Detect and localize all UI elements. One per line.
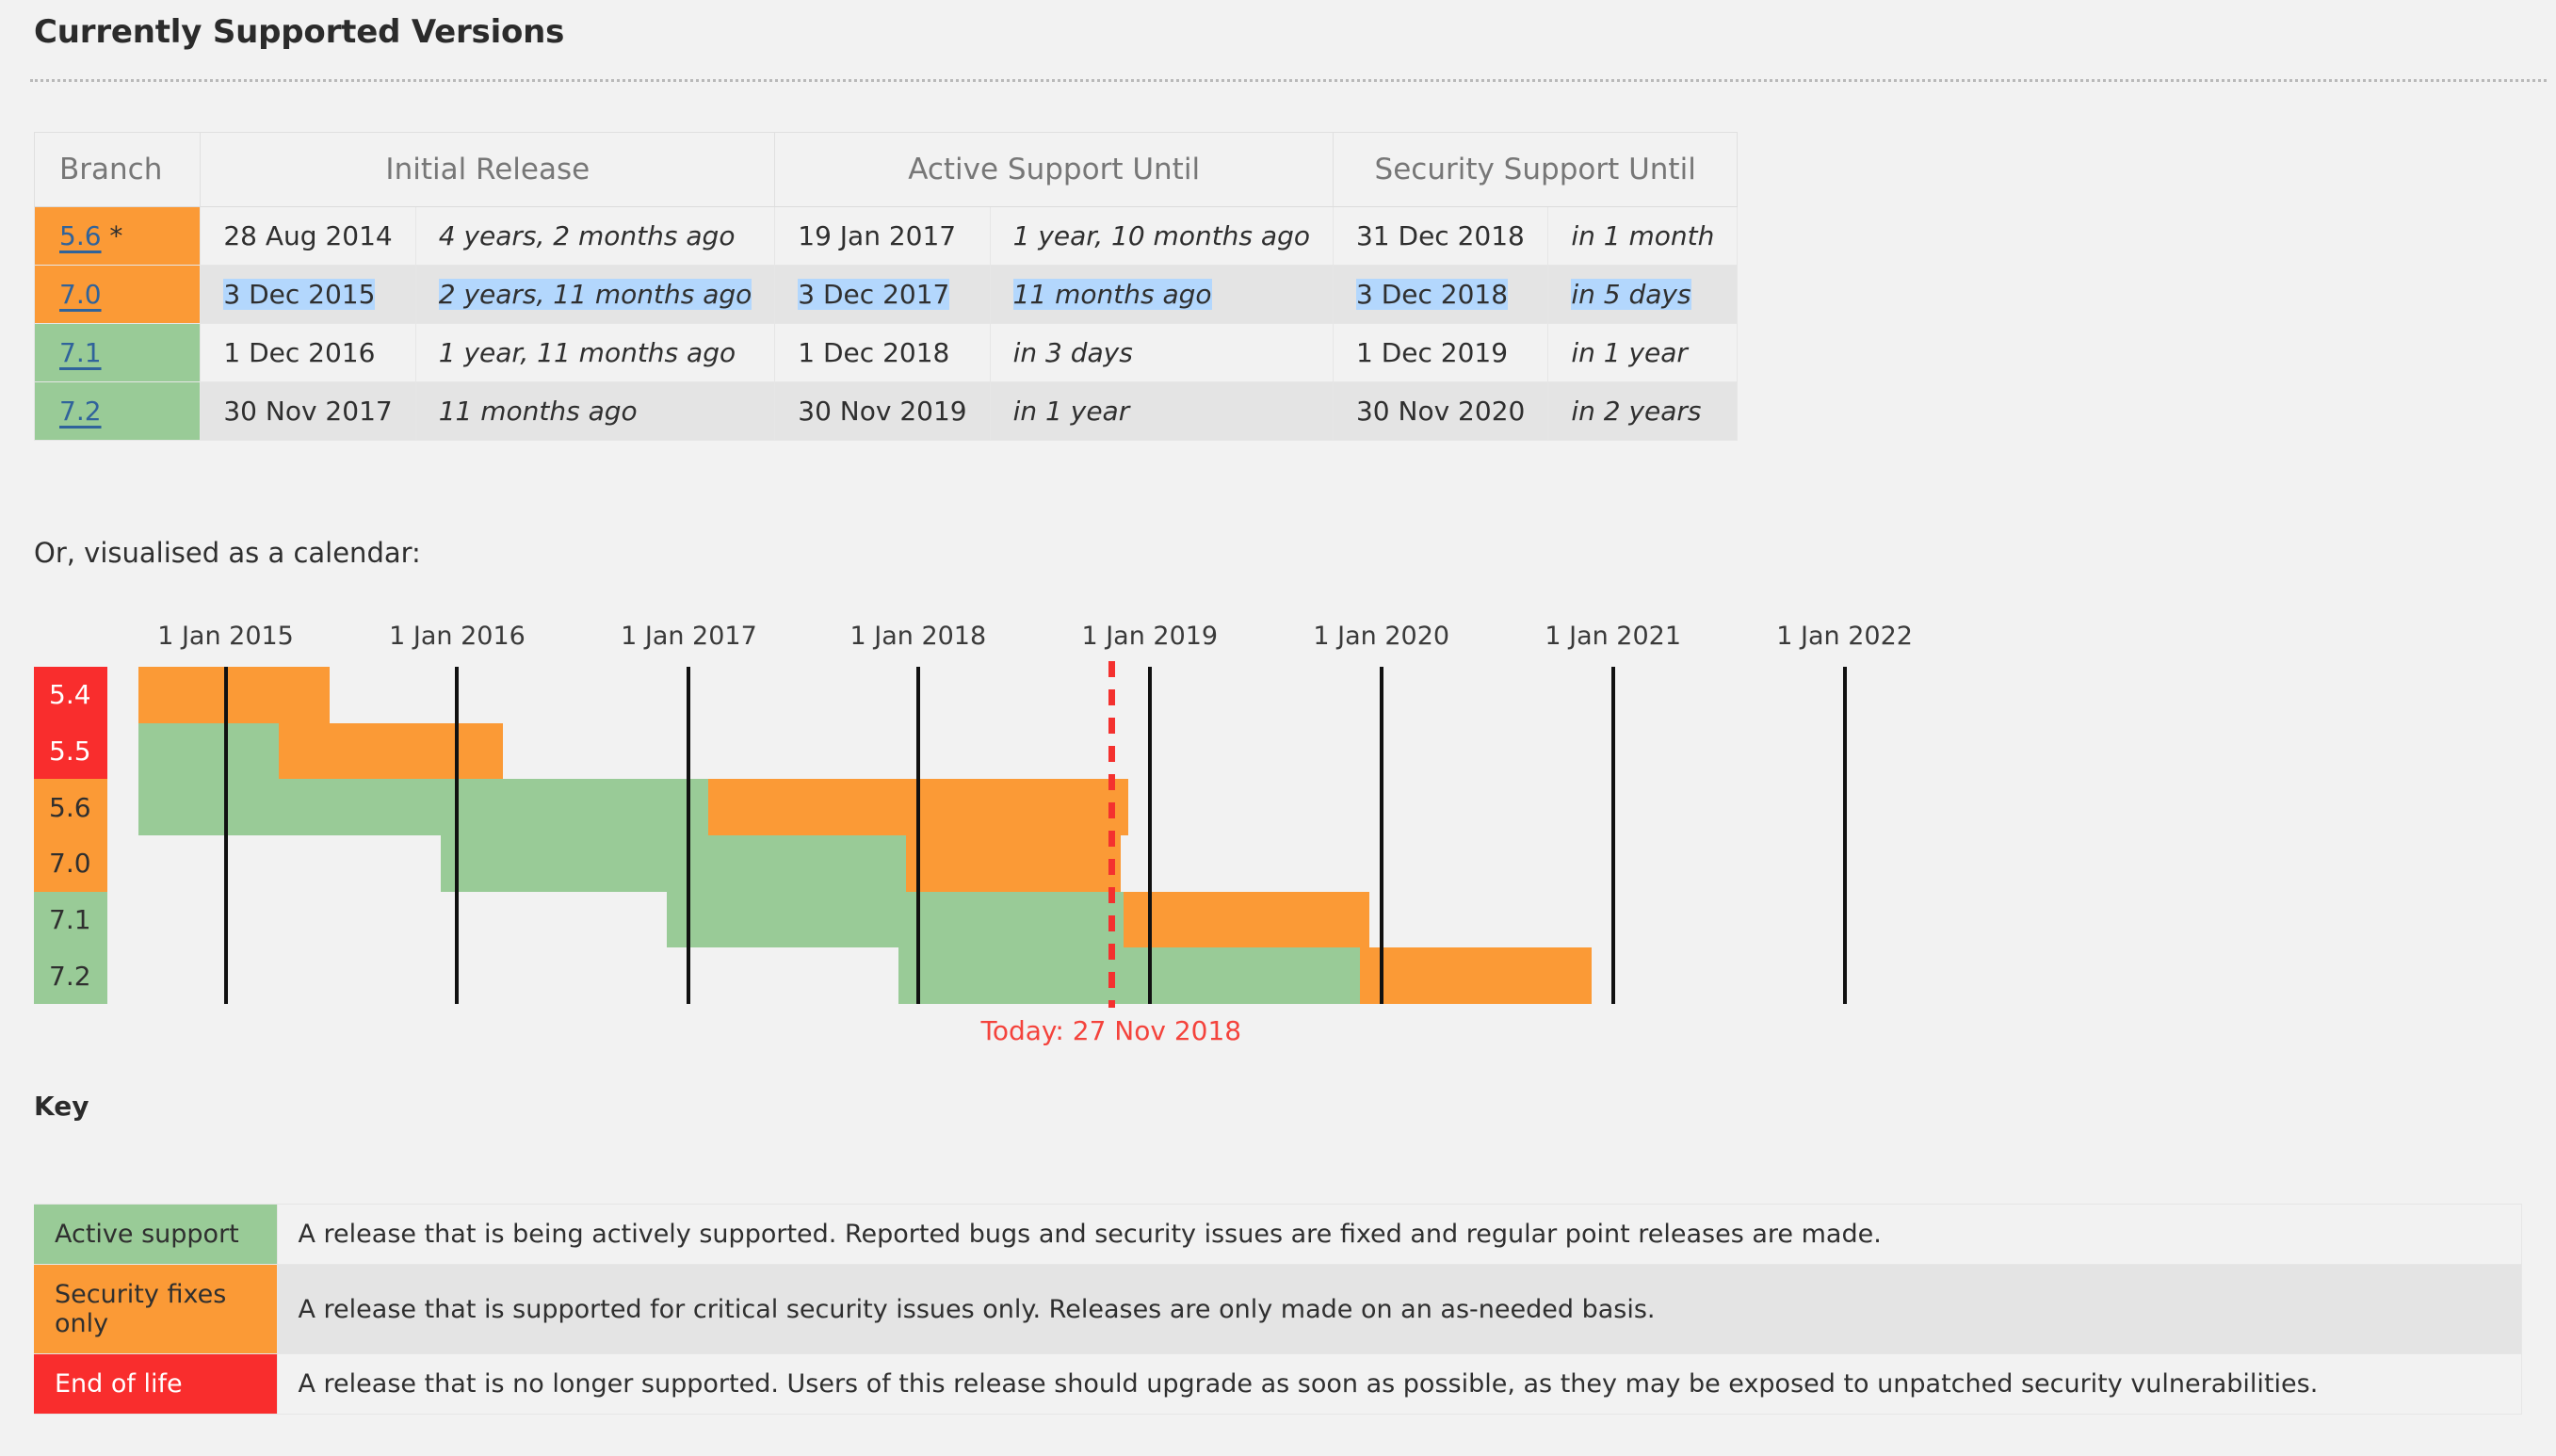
calendar-gridline [455,667,459,1004]
release-calendar-chart: 1 Jan 20151 Jan 20161 Jan 20171 Jan 2018… [34,622,2520,1017]
calendar-bar-7.1-security_fixes [1124,892,1369,948]
key-description: A release that is being actively support… [277,1205,2522,1265]
security-support-until-relative: in 1 month [1548,207,1738,266]
branch-link[interactable]: 5.6 [59,220,102,251]
calendar-plot-area [107,667,2520,1004]
calendar-branch-label-5.4: 5.4 [34,667,107,723]
calendar-bar-5.4-security_fixes [138,667,329,723]
branch-cell[interactable]: 7.0 [35,266,201,324]
initial-release-date: 1 Dec 2016 [201,324,415,382]
table-row: 7.11 Dec 20161 year, 11 months ago1 Dec … [35,324,1738,382]
key-row: End of lifeA release that is no longer s… [34,1354,2522,1415]
calendar-branch-label-5.5: 5.5 [34,723,107,780]
table-row: 5.6 *28 Aug 20144 years, 2 months ago19 … [35,207,1738,266]
security-support-until-relative: in 5 days [1548,266,1738,324]
active-support-until-date: 30 Nov 2019 [775,382,990,441]
calendar-gridline [687,667,690,1004]
active-support-until-relative: 11 months ago [990,266,1333,324]
table-row: 7.230 Nov 201711 months ago30 Nov 2019in… [35,382,1738,441]
initial-release-relative: 1 year, 11 months ago [415,324,775,382]
supported-versions-table: Branch Initial Release Active Support Un… [34,132,1738,441]
branch-link[interactable]: 7.0 [59,279,102,310]
calendar-bar-5.5-security_fixes [279,723,503,780]
key-table-body: Active supportA release that is being ac… [34,1205,2522,1415]
branch-link[interactable]: 7.1 [59,337,102,368]
security-support-until-relative: in 2 years [1548,382,1738,441]
calendar-intro-text: Or, visualised as a calendar: [34,537,421,569]
key-row: Active supportA release that is being ac… [34,1205,2522,1265]
calendar-branch-label-7.1: 7.1 [34,892,107,948]
key-row: Security fixes onlyA release that is sup… [34,1265,2522,1354]
initial-release-relative: 2 years, 11 months ago [415,266,775,324]
active-support-until-relative: in 1 year [990,382,1333,441]
column-header-initial-release: Initial Release [201,133,775,207]
calendar-bar-7.2-active_support [898,947,1359,1004]
calendar-branch-label-7.2: 7.2 [34,947,107,1004]
calendar-axis-tick-label: 1 Jan 2020 [1313,622,1449,651]
today-marker-label: Today: 27 Nov 2018 [980,1015,1241,1046]
calendar-gridline [1380,667,1383,1004]
initial-release-date: 30 Nov 2017 [201,382,415,441]
key-description: A release that is supported for critical… [277,1265,2522,1354]
today-marker-line [1108,661,1115,1008]
security-support-until-date: 3 Dec 2018 [1333,266,1547,324]
active-support-until-date: 3 Dec 2017 [775,266,990,324]
initial-release-relative: 11 months ago [415,382,775,441]
calendar-branch-label-7.0: 7.0 [34,835,107,892]
supported-versions-page: Currently Supported Versions Branch Init… [0,0,2556,1456]
calendar-branch-labels: 5.45.55.67.07.17.2 [34,667,107,1004]
branch-footnote-marker: * [102,220,123,251]
calendar-axis-tick-label: 1 Jan 2019 [1081,622,1218,651]
table-body: 5.6 *28 Aug 20144 years, 2 months ago19 … [35,207,1738,441]
calendar-bar-7.1-active_support [667,892,1123,948]
calendar-axis-tick-label: 1 Jan 2021 [1545,622,1681,651]
key-swatch-eol: End of life [34,1354,277,1415]
key-description: A release that is no longer supported. U… [277,1354,2522,1415]
calendar-gridline [1148,667,1152,1004]
calendar-branch-label-5.6: 5.6 [34,779,107,835]
calendar-axis-tick-label: 1 Jan 2015 [157,622,294,651]
calendar-axis-tick-label: 1 Jan 2022 [1776,622,1913,651]
calendar-bar-7.0-security_fixes [906,835,1121,892]
branch-cell[interactable]: 7.1 [35,324,201,382]
calendar-axis-tick-label: 1 Jan 2016 [389,622,526,651]
security-support-until-relative: in 1 year [1548,324,1738,382]
calendar-gridline [916,667,920,1004]
branch-link[interactable]: 7.2 [59,396,102,427]
key-table: Active supportA release that is being ac… [34,1204,2522,1415]
column-header-active-support-until: Active Support Until [775,133,1334,207]
initial-release-relative: 4 years, 2 months ago [415,207,775,266]
calendar-gridline [1611,667,1615,1004]
calendar-bar-5.5-active_support [138,723,279,780]
page-title: Currently Supported Versions [34,13,564,51]
table-head: Branch Initial Release Active Support Un… [35,133,1738,207]
table-header-row: Branch Initial Release Active Support Un… [35,133,1738,207]
active-support-until-date: 1 Dec 2018 [775,324,990,382]
initial-release-date: 3 Dec 2015 [201,266,415,324]
security-support-until-date: 1 Dec 2019 [1333,324,1547,382]
security-support-until-date: 30 Nov 2020 [1333,382,1547,441]
initial-release-date: 28 Aug 2014 [201,207,415,266]
calendar-body: 5.45.55.67.07.17.2 [34,667,2520,1004]
calendar-axis-tick-label: 1 Jan 2017 [621,622,757,651]
branch-cell[interactable]: 7.2 [35,382,201,441]
active-support-until-date: 19 Jan 2017 [775,207,990,266]
column-header-branch: Branch [35,133,201,207]
branch-cell[interactable]: 5.6 * [35,207,201,266]
calendar-gridline [1843,667,1847,1004]
column-header-security-support-until: Security Support Until [1333,133,1737,207]
calendar-bar-7.2-security_fixes [1360,947,1592,1004]
calendar-bar-7.0-active_support [441,835,906,892]
table-row: 7.03 Dec 20152 years, 11 months ago3 Dec… [35,266,1738,324]
calendar-axis-tick-label: 1 Jan 2018 [849,622,986,651]
security-support-until-date: 31 Dec 2018 [1333,207,1547,266]
active-support-until-relative: in 3 days [990,324,1333,382]
calendar-gridline [224,667,228,1004]
active-support-until-relative: 1 year, 10 months ago [990,207,1333,266]
key-swatch-security: Security fixes only [34,1265,277,1354]
key-heading: Key [34,1091,89,1122]
title-divider [30,79,2547,82]
key-swatch-active: Active support [34,1205,277,1265]
